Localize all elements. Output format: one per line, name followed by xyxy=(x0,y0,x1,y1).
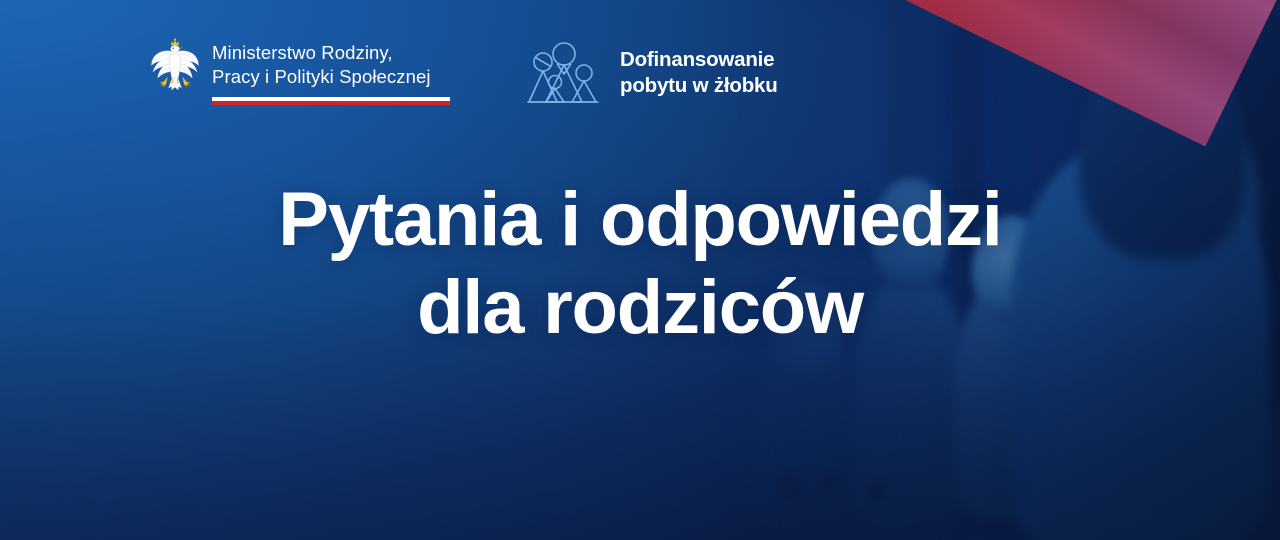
program-name-line-1: Dofinansowanie xyxy=(620,47,778,73)
program-name-line-2: pobytu w żłobku xyxy=(620,73,778,99)
ministry-name-line-2: Pracy i Polityki Społecznej xyxy=(212,65,450,89)
page-title: Pytania i odpowiedzi dla rodziców xyxy=(0,176,1280,352)
polish-eagle-emblem xyxy=(150,36,200,98)
page-title-line-1: Pytania i odpowiedzi xyxy=(0,176,1280,264)
program-name: Dofinansowanie pobytu w żłobku xyxy=(620,47,778,99)
ministry-name-line-1: Ministerstwo Rodziny, xyxy=(212,41,450,65)
family-group-icon xyxy=(526,40,602,106)
logo-row: Ministerstwo Rodziny, Pracy i Polityki S… xyxy=(150,36,778,106)
polish-flag-bar xyxy=(212,97,450,105)
page-title-line-2: dla rodziców xyxy=(0,264,1280,352)
hero-banner: Ministerstwo Rodziny, Pracy i Polityki S… xyxy=(0,0,1280,540)
ministry-logo: Ministerstwo Rodziny, Pracy i Polityki S… xyxy=(150,36,450,105)
ministry-text: Ministerstwo Rodziny, Pracy i Polityki S… xyxy=(212,36,450,105)
program-logo: Dofinansowanie pobytu w żłobku xyxy=(526,36,778,106)
